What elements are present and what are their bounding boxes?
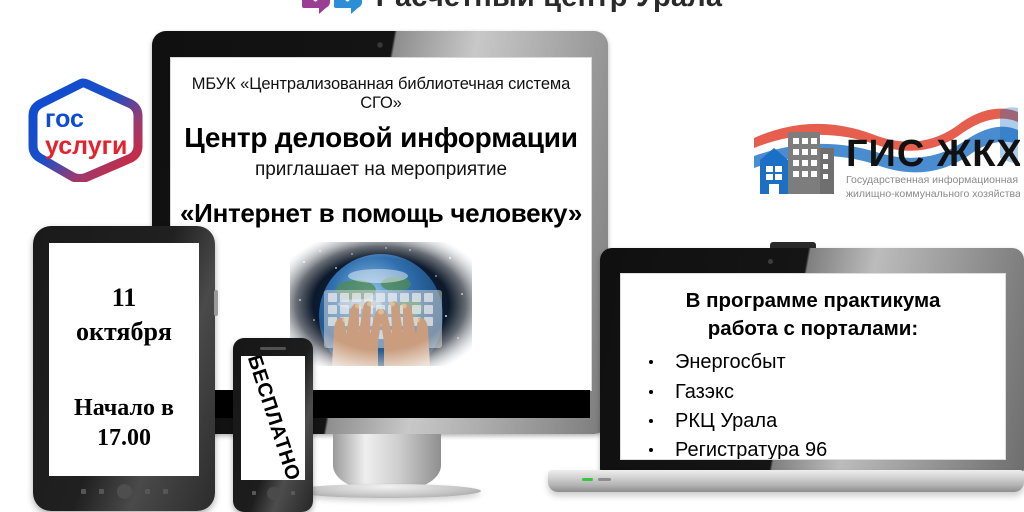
list-item: Регистратура 96 <box>647 436 1005 460</box>
tablet-volume-icon[interactable] <box>163 489 168 494</box>
program-heading: В программе практикума работа с порталам… <box>635 287 991 342</box>
program-heading-line1: В программе практикума <box>635 287 991 315</box>
tablet-home-button[interactable] <box>117 484 132 499</box>
two-speech-bubbles-icon <box>302 0 366 12</box>
svg-text:жилищно-коммунального хозяйств: жилищно-коммунального хозяйства <box>846 188 1020 200</box>
gosuslugi-logo: гос услуги <box>28 78 146 182</box>
phone-back-icon[interactable] <box>252 491 256 495</box>
gosuslugi-hexagon-icon: гос услуги <box>28 78 146 182</box>
monitor-invite-line: приглашает на мероприятие <box>171 159 591 181</box>
laptop-power-led <box>582 478 593 481</box>
laptop-lid: В программе практикума работа с порталам… <box>600 248 1024 472</box>
event-date: 11 октября <box>49 281 199 349</box>
event-time-value: 17.00 <box>49 423 199 453</box>
laptop-webcam-icon <box>768 259 773 264</box>
tablet-screen: 11 октября Начало в 17.00 <box>49 243 199 476</box>
event-time-label: Начало в <box>49 393 199 423</box>
event-time: Начало в 17.00 <box>49 393 199 453</box>
gisjkh-icon: ГИС ЖКХ Государственная информационная с… <box>752 104 1020 208</box>
tablet-search-icon[interactable] <box>99 489 104 494</box>
keyboard-earth-illustration <box>290 242 472 366</box>
laptop-device: В программе практикума работа с порталам… <box>548 248 1024 503</box>
monitor-organization-line: МБУК «Централизованная библиотечная сист… <box>179 75 583 113</box>
monitor-stand-base <box>293 484 481 498</box>
smartphone-device: БЕСПЛАТНО <box>233 338 313 512</box>
portals-list: Энергосбыт Газэкс РКЦ Урала Регистратура… <box>621 348 1005 460</box>
tablet-menu-icon[interactable] <box>145 489 150 494</box>
list-item: Газэкс <box>647 378 1005 407</box>
top-banner: Расчетный центр Урала <box>0 0 1024 14</box>
gisjkh-logo: ГИС ЖКХ Государственная информационная с… <box>752 104 1020 208</box>
svg-text:гос: гос <box>45 105 84 133</box>
phone-speaker-icon <box>260 347 286 350</box>
list-item: РКЦ Урала <box>647 407 1005 436</box>
list-item: Энергосбыт <box>647 348 1005 377</box>
phone-search-icon[interactable] <box>291 491 295 495</box>
svg-text:ГИС ЖКХ: ГИС ЖКХ <box>846 133 1020 175</box>
svg-text:Государственная информационная: Государственная информационная система <box>846 174 1020 186</box>
tablet-device: 11 октября Начало в 17.00 <box>33 226 215 511</box>
phone-home-button[interactable] <box>267 487 280 500</box>
tablet-back-icon[interactable] <box>81 489 86 494</box>
svg-text:услуги: услуги <box>45 132 127 160</box>
webcam-icon <box>377 42 383 48</box>
poster-canvas: Расчетный центр Урала гос услуги <box>0 0 1024 512</box>
event-month: октября <box>49 315 199 349</box>
laptop-status-led <box>598 478 611 481</box>
banner-title: Расчетный центр Урала <box>376 0 722 14</box>
phone-screen: БЕСПЛАТНО <box>241 356 305 480</box>
speech-bubble-purple-icon <box>302 0 330 8</box>
laptop-base <box>548 470 1024 492</box>
desktop-monitor: МБУК «Централизованная библиотечная сист… <box>152 31 608 434</box>
tablet-nav-bar <box>49 482 199 500</box>
phone-nav-bar <box>241 484 305 502</box>
monitor-center-title: Центр деловой информации <box>171 122 591 154</box>
monitor-event-title: «Интернет в помощь человеку» <box>171 198 591 229</box>
program-heading-line2: работа с порталами: <box>635 315 991 343</box>
laptop-screen: В программе практикума работа с порталам… <box>620 273 1006 460</box>
tablet-side-button[interactable] <box>214 290 218 316</box>
speech-bubble-blue-icon <box>334 0 362 8</box>
hands-keyboard-earth-photo <box>290 242 472 366</box>
free-admission-label: БЕСПЛАТНО <box>242 356 304 480</box>
event-day: 11 <box>49 281 199 315</box>
